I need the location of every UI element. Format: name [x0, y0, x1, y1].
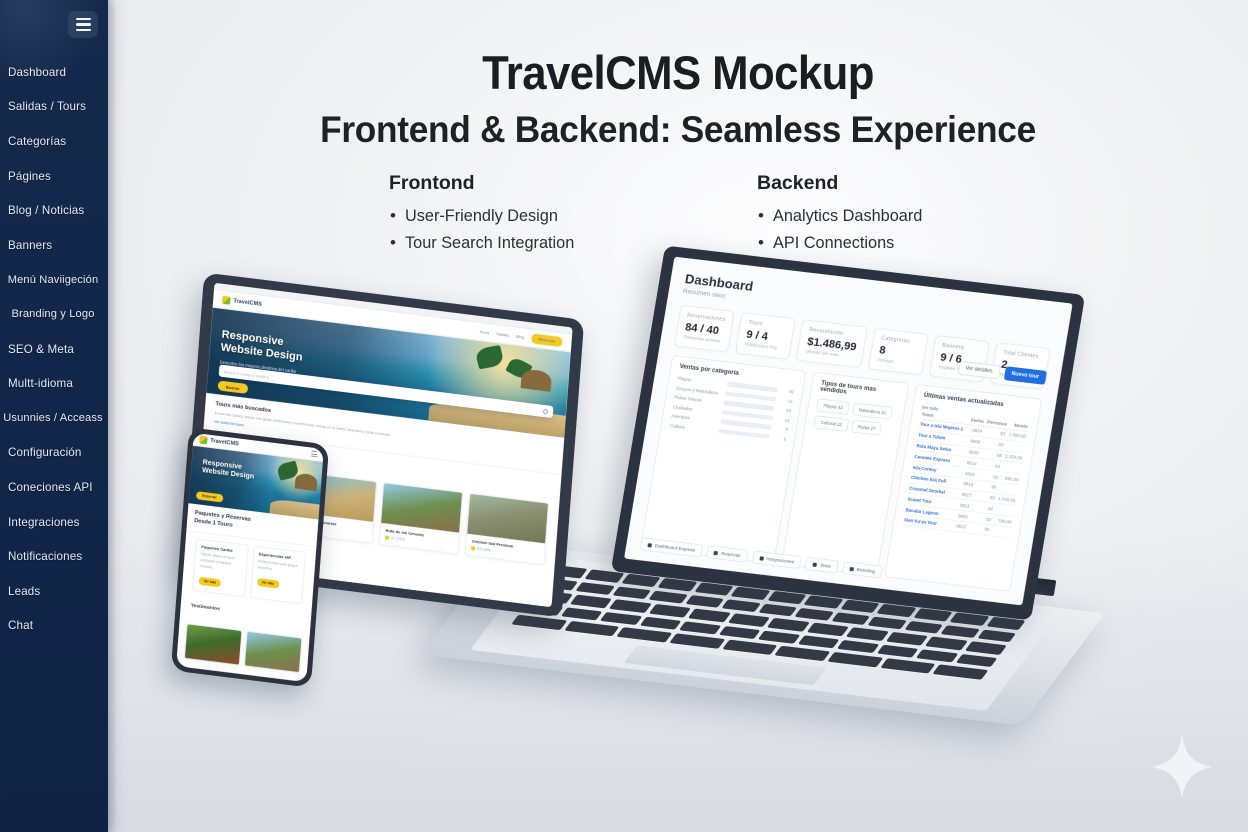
sidebar-item-conexiones-api[interactable]: Coneciones API: [0, 470, 108, 505]
bar-track: [723, 401, 775, 411]
star-icon: [471, 547, 475, 551]
nav-link-tours[interactable]: Tours: [479, 329, 489, 335]
chip[interactable]: Cultural 22: [814, 415, 849, 432]
mini-card-text: Rutas privadas para grupos pequeños.: [258, 558, 299, 575]
feature-columns: Frontond User-Friendly Design Tour Searc…: [108, 172, 1248, 257]
cell-date: 0822: [950, 520, 968, 532]
sidebar-item-menu-navegacion[interactable]: Menú Naviigeción: [0, 263, 108, 298]
tour-card-rating: 4,7 (210): [391, 537, 405, 543]
tour-card[interactable]: Chichén Itzá Premium 4,9 (340): [464, 493, 549, 566]
page-headings: TravelCMS Mockup Frontend & Backend: Sea…: [108, 48, 1248, 150]
chip[interactable]: Playas 42: [816, 398, 849, 415]
sidebar-item-label: Leads: [8, 585, 40, 598]
sidebar-item-label: Dashboard: [8, 66, 66, 79]
site-logo[interactable]: TravelCMS: [222, 295, 262, 308]
phone-screen: TravelCMS: [176, 433, 324, 682]
bar-track: [725, 391, 777, 401]
sidebar-item-categorias[interactable]: Categorías: [0, 124, 108, 159]
recent-sales-panel: Últimas ventas actualizadas Ver todo Tou…: [884, 384, 1042, 592]
bar-track: [722, 410, 774, 420]
sidebar-item-label: Págines: [8, 170, 51, 183]
sidebar-item-label: Blog / Noticias: [8, 204, 84, 217]
frontend-website-mobile: TravelCMS: [176, 433, 324, 682]
sidebar-item-label: Notificaciones: [8, 550, 82, 563]
sidebar-item-label: Salidas / Tours: [8, 100, 86, 113]
recent-sales-table: Tours Fecha Personas Monto Tour a Isla M…: [902, 409, 1029, 538]
chip[interactable]: Naturaleza 31: [852, 403, 893, 420]
frontend-heading: Frontond: [389, 172, 639, 195]
sidebar-item-integraciones[interactable]: Integraciones: [0, 505, 108, 540]
reserve-button[interactable]: Reservar: [531, 333, 563, 347]
photo-card[interactable]: [244, 631, 303, 674]
hamburger-menu-icon[interactable]: [311, 451, 317, 457]
bar-track: [718, 429, 770, 439]
sidebar-item-label: Menú Naviigeción: [8, 274, 99, 286]
star-icon: [385, 536, 389, 540]
sidebar-item-multi-idioma[interactable]: Multt-idioma: [0, 366, 108, 401]
bar-label: Grupos y Naturaleza: [676, 385, 721, 395]
list-item: API Connections: [757, 230, 1007, 257]
page-subtitle: Frontend & Backend: Seamless Experience: [142, 108, 1214, 150]
sidebar-item-label: Usunnies / Acceass: [3, 412, 103, 424]
sidebar-item-label: SEO & Meta: [8, 343, 74, 356]
bar-label: Playas: [677, 376, 722, 386]
kpi-card: Recaudación $1.486,99 Ventas del mes: [796, 319, 868, 368]
chip[interactable]: Rutas 27: [851, 420, 883, 436]
nav-link-blog[interactable]: Blog: [516, 334, 524, 340]
bar-value: 55: [780, 407, 792, 413]
kpi-card: Categorías 8 Activas: [868, 328, 929, 376]
photo: [245, 632, 302, 672]
search-icon: [543, 408, 548, 414]
sidebar-item-label: Categorías: [8, 135, 66, 148]
mini-card[interactable]: Experiencias VIP Rutas privadas para gru…: [249, 546, 305, 605]
mini-card-text: Salidas diarias con guía certificado y t…: [200, 551, 242, 574]
sidebar-item-notificaciones[interactable]: Notificaciones: [0, 539, 108, 574]
laptop-lid: Dashboard Resumen seoc Ver detalles Nuev…: [611, 246, 1085, 621]
kpi-card: Reservaciones 84 / 40 Reservas activas: [674, 305, 735, 353]
frontend-column: Frontond User-Friendly Design Tour Searc…: [389, 172, 639, 257]
logo-mark-icon: [199, 436, 208, 445]
tour-card[interactable]: Ruta de los Cenotes 4,7 (210): [378, 482, 463, 555]
screenshot-root: Dashboard Resumen seoc Ver detalles Nuev…: [0, 0, 1248, 832]
bar-label: Ciudades: [673, 404, 718, 414]
nav-link-salidas[interactable]: Salidas: [496, 331, 510, 338]
panel-heading: Tipos de tours mas vendidos: [820, 381, 900, 402]
sidebar-nav-list: Dashboard Salidas / Tours Categorías Pág…: [0, 55, 108, 643]
sparkle-icon: [1150, 733, 1214, 801]
hamburger-menu-icon[interactable]: [68, 11, 98, 38]
sidebar-item-salidas-tours[interactable]: Salidas / Tours: [0, 90, 108, 125]
bar-track: [726, 382, 778, 392]
sidebar-item-label: Chat: [8, 619, 33, 632]
bar-value: 19: [778, 416, 790, 422]
sidebar-item-seo-meta[interactable]: SEO & Meta: [0, 332, 108, 367]
bar-value: 6: [775, 435, 787, 441]
search-placeholder: Busca tu próximo destino: [224, 369, 269, 380]
photo-card[interactable]: [184, 623, 243, 666]
frontend-bullet-list: User-Friendly Design Tour Search Integra…: [389, 203, 639, 257]
list-item: User-Friendly Design: [389, 203, 639, 230]
bar-value: 74: [781, 398, 793, 404]
kpi-card: Tours 9 / 4 Publicados hoy: [735, 312, 796, 360]
chip-group: Playas 42 Naturaleza 31 Cultural 22 Ruta…: [814, 398, 897, 437]
sidebar-item-label: Multt-idioma: [8, 377, 73, 390]
sidebar-item-leads[interactable]: Leads: [0, 574, 108, 609]
laptop-screen: Dashboard Resumen seoc Ver detalles Nuev…: [624, 257, 1072, 606]
backend-column: Backend Analytics Dashboard API Connecti…: [757, 172, 1007, 257]
tour-card-rating: 4,9 (340): [477, 547, 491, 553]
phone-mockup: TravelCMS: [180, 435, 320, 680]
logo-mark-icon: [222, 295, 231, 304]
backend-dashboard: Dashboard Resumen seoc Ver detalles Nuev…: [624, 257, 1072, 606]
mini-card-button[interactable]: Ver más: [198, 577, 221, 588]
mini-card-group: Paquetes Caribe Salidas diarias con guía…: [192, 538, 306, 605]
backend-heading: Backend: [757, 172, 1007, 195]
bar-value: 9: [776, 426, 788, 432]
sidebar: Dashboard Salidas / Tours Categorías Pág…: [0, 0, 108, 832]
bar-label: Aventura: [671, 413, 716, 423]
bar-track: [720, 419, 772, 429]
mini-card[interactable]: Paquetes Caribe Salidas diarias con guía…: [192, 538, 248, 597]
sidebar-item-label: Banners: [8, 239, 52, 252]
sidebar-item-label: Coneciones API: [8, 481, 93, 494]
photo: [185, 625, 242, 665]
sidebar-item-label: Branding y Logo: [11, 308, 94, 320]
cell-amount: [989, 525, 1011, 538]
sidebar-item-configuracion[interactable]: Configuración: [0, 436, 108, 471]
sidebar-item-banners[interactable]: Banners: [0, 228, 108, 263]
logo-text: TravelCMS: [233, 298, 262, 308]
bar-label: Rutas Selvas: [674, 394, 719, 404]
sidebar-item-dashboard[interactable]: Dashboard: [0, 55, 108, 90]
page-title: TravelCMS Mockup: [148, 48, 1208, 98]
phone-body: TravelCMS: [171, 427, 329, 688]
bar-value: 82: [783, 388, 795, 394]
sales-by-category-panel: Ventas por categoría Playas 82 Grupos y …: [640, 355, 807, 564]
sidebar-item-usuarios-accesos[interactable]: Usunnies / Acceass: [0, 401, 108, 436]
sidebar-item-branding-logo[interactable]: Branding y Logo: [0, 297, 108, 332]
sidebar-item-label: Integraciones: [8, 516, 80, 529]
bar-label: Cultura: [669, 423, 714, 433]
list-item: Tour Search Integration: [389, 230, 639, 257]
backend-bullet-list: Analytics Dashboard API Connections: [757, 203, 1007, 257]
sidebar-item-label: Configuración: [8, 446, 82, 459]
mini-card-button[interactable]: Ver más: [256, 578, 279, 589]
sidebar-item-pagines[interactable]: Págines: [0, 159, 108, 194]
badge[interactable]: Stats: [805, 557, 839, 574]
sidebar-item-blog-noticias[interactable]: Blog / Noticias: [0, 193, 108, 228]
list-item: Analytics Dashboard: [757, 203, 1007, 230]
logo-text: TravelCMS: [210, 438, 239, 448]
sidebar-item-chat[interactable]: Chat: [0, 609, 108, 644]
cell-people: 05: [966, 522, 991, 535]
